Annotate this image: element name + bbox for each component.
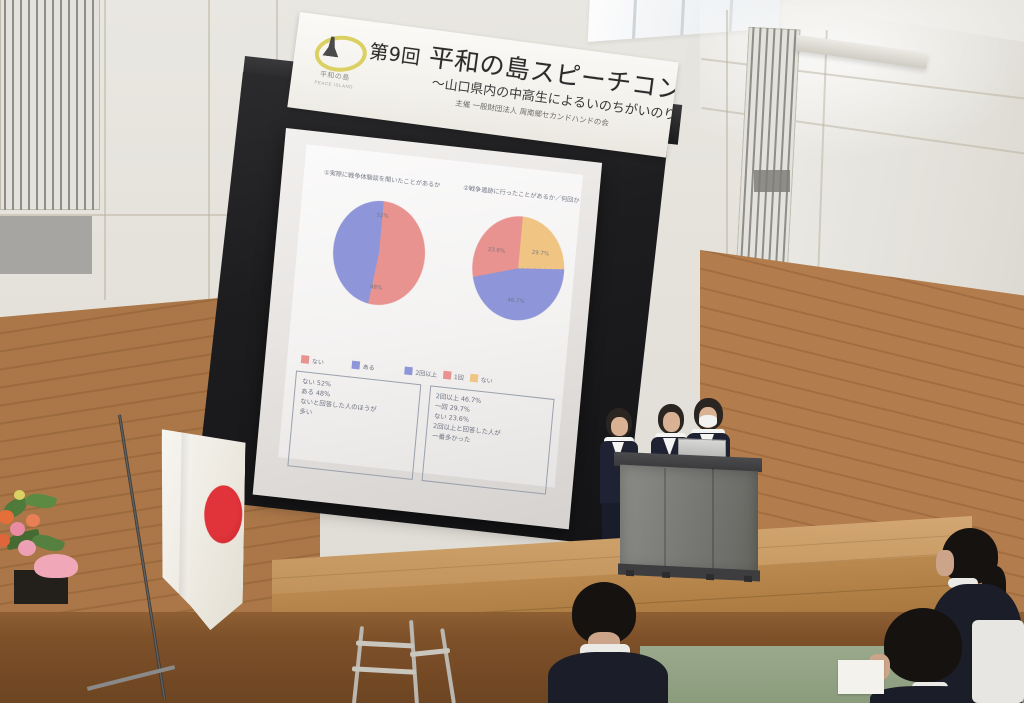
pie-chart-war-experience: 52% 48% bbox=[329, 196, 430, 310]
flower-bloom bbox=[34, 554, 78, 578]
folding-chair[interactable] bbox=[972, 620, 1024, 703]
lectern-body bbox=[620, 465, 758, 576]
hinomaru-disc bbox=[204, 485, 243, 544]
audience-head bbox=[884, 608, 962, 682]
legend-left-item-1: ない bbox=[301, 355, 325, 366]
flower-bloom bbox=[26, 514, 40, 527]
face-mask-icon bbox=[699, 415, 717, 427]
legend-label: ある bbox=[362, 361, 375, 371]
survey-results-slide: ①実際に戦争体験談を聞いたことがあるか 52% 48% ②戦争遺跡に行ったことが… bbox=[278, 144, 583, 487]
legend-swatch bbox=[443, 371, 452, 380]
legend-label: ない bbox=[312, 356, 325, 366]
legend-swatch bbox=[404, 366, 413, 375]
pie-chart-site-visits: 29.7% 46.7% 23.6% bbox=[468, 211, 569, 325]
step-stool bbox=[350, 620, 460, 703]
legend-label: 1回 bbox=[454, 371, 465, 381]
legend-swatch bbox=[469, 374, 478, 383]
legend-right-item-1: 2回以上 bbox=[404, 366, 437, 379]
legend-swatch bbox=[351, 361, 360, 370]
flower-bloom bbox=[0, 510, 14, 524]
flower-bloom bbox=[18, 540, 36, 556]
legend-right-item-2: 1回 bbox=[443, 370, 465, 381]
audience-shoulders bbox=[870, 686, 986, 703]
vent-louver-icon bbox=[0, 0, 100, 210]
flower-bloom bbox=[14, 490, 25, 500]
floral-arrangement bbox=[0, 470, 92, 600]
peace-island-logo-icon bbox=[309, 28, 366, 75]
note-box-right: 2回以上 46.7% 一回 29.7% ない 23.6% 2回以上と回答した人が… bbox=[421, 385, 554, 494]
chart-title-left: ①実際に戦争体験談を聞いたことがあるか bbox=[315, 168, 456, 203]
wall-access-panel bbox=[0, 216, 92, 274]
flower-bloom bbox=[10, 522, 25, 536]
foliage bbox=[31, 531, 66, 556]
pie-label: 23.6% bbox=[488, 247, 506, 255]
audience-shoulders bbox=[548, 652, 668, 703]
pie-label: 52% bbox=[376, 212, 389, 219]
legend-label: ない bbox=[480, 374, 493, 384]
chart-block-right: ②戦争遺跡に行ったことがあるか／何回か 29.7% 46.7% 23.6% bbox=[444, 183, 595, 328]
audience-front-center bbox=[548, 582, 668, 703]
presenter-face bbox=[663, 412, 680, 432]
legend-label: 2回以上 bbox=[415, 367, 438, 378]
gymnasium-scene: 平和の島 PEACE ISLAND 第9回 平和の島スピーチコンテスト ～山口県… bbox=[0, 0, 1024, 703]
chart-title-right: ②戦争遺跡に行ったことがあるか／何回か bbox=[454, 183, 595, 218]
legend-swatch bbox=[301, 355, 310, 364]
projection-screen: ①実際に戦争体験談を聞いたことがあるか 52% 48% ②戦争遺跡に行ったことが… bbox=[253, 128, 602, 529]
wall-seam bbox=[208, 0, 210, 310]
pie-label: 48% bbox=[370, 284, 383, 291]
paper-sheet bbox=[838, 660, 884, 694]
foliage bbox=[25, 490, 58, 511]
presenter-face bbox=[611, 417, 628, 436]
note-box-left: ない 52% ある 48% ないと回答した人のほうが 多い bbox=[287, 371, 420, 480]
chart-block-left: ①実際に戦争体験談を聞いたことがあるか 52% 48% bbox=[305, 168, 456, 313]
wall-access-panel bbox=[754, 170, 790, 192]
legend-right-item-3: ない bbox=[469, 373, 493, 384]
legend-left-item-2: ある bbox=[351, 360, 375, 371]
audience-neck bbox=[936, 550, 954, 576]
audience-right-front bbox=[868, 608, 988, 703]
pie-label: 46.7% bbox=[507, 297, 525, 305]
pie-label: 29.7% bbox=[531, 250, 549, 258]
lectern bbox=[618, 455, 758, 580]
wall-seam bbox=[104, 0, 106, 300]
